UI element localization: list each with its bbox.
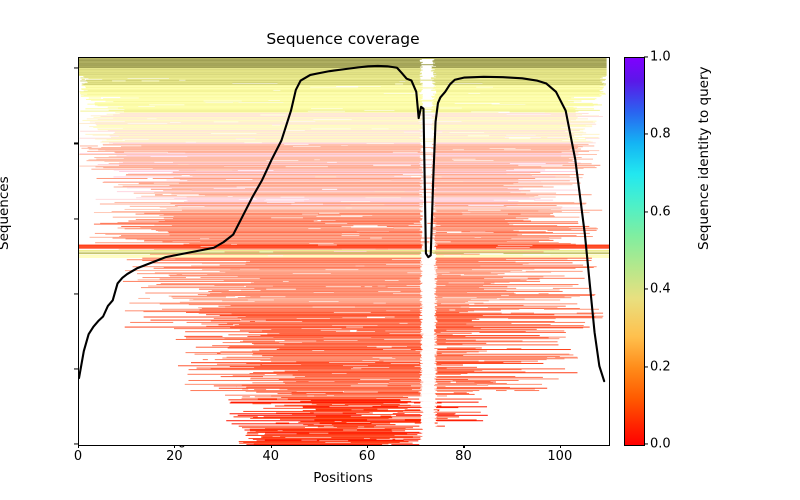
- plot-clip: [79, 58, 609, 445]
- colorbar-tick-label: 0.4: [650, 282, 671, 297]
- x-tick-label: 100: [547, 449, 572, 464]
- colorbar-tick-mark: [644, 443, 648, 444]
- coverage-curve-path: [79, 66, 604, 381]
- coverage-curve: [79, 58, 609, 445]
- colorbar-label: Sequence identity to query: [696, 67, 712, 251]
- colorbar-tick-label: 1.0: [650, 50, 671, 65]
- colorbar-tick-mark: [644, 289, 648, 290]
- colorbar-tick-mark: [644, 211, 648, 212]
- x-tick-label: 20: [166, 449, 183, 464]
- x-tick-label: 80: [455, 449, 472, 464]
- figure: Sequence coverage Sequences Positions 02…: [0, 0, 800, 500]
- colorbar-tick-label: 0.0: [650, 437, 671, 452]
- colorbar-tick-label: 0.2: [650, 359, 671, 374]
- y-axis-label: Sequences: [0, 176, 12, 250]
- colorbar-gradient: [625, 58, 644, 445]
- colorbar-tick-label: 0.8: [650, 127, 671, 142]
- colorbar-tick-label: 0.6: [650, 204, 671, 219]
- colorbar-tick-mark: [644, 366, 648, 367]
- colorbar: [624, 57, 645, 446]
- colorbar-tick-mark: [644, 56, 648, 57]
- heatmap-axes: [78, 57, 610, 446]
- x-tick-label: 60: [359, 449, 376, 464]
- x-axis-label: Positions: [78, 470, 608, 486]
- colorbar-tick-mark: [644, 134, 648, 135]
- chart-title: Sequence coverage: [78, 30, 608, 48]
- x-tick-label: 40: [262, 449, 279, 464]
- x-tick-label: 0: [74, 449, 82, 464]
